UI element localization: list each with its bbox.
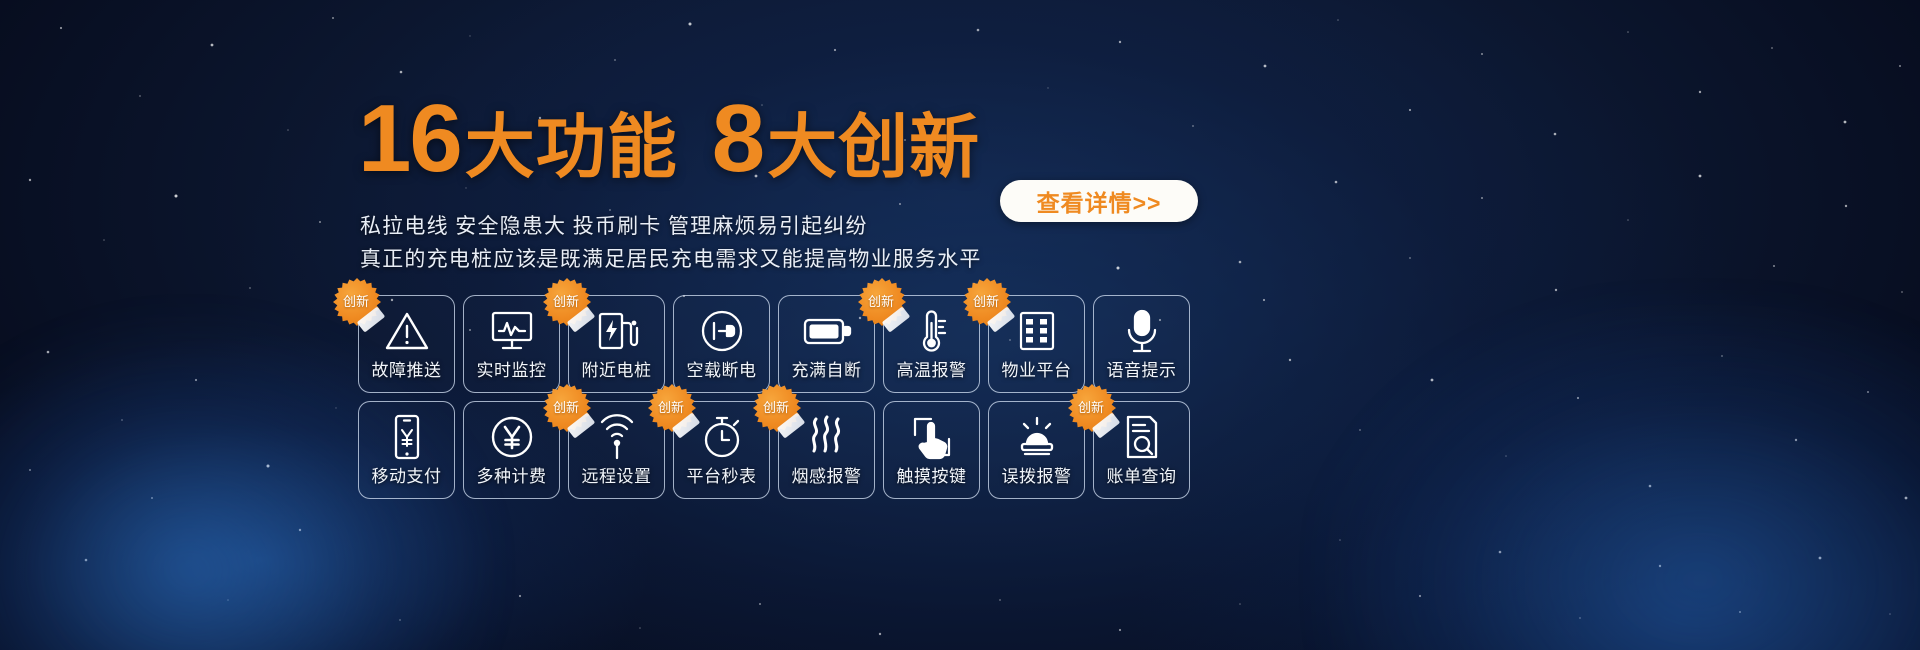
battery-full-icon (802, 300, 852, 362)
touch-hand-icon (909, 406, 955, 468)
feature-label: 实时监控 (477, 362, 547, 379)
innovation-badge-label: 创新 (1078, 397, 1104, 416)
innovation-badge: 创新 (1068, 384, 1116, 432)
feature-label: 移动支付 (372, 468, 442, 485)
headline-word-innovations: 大创新 (767, 112, 980, 182)
feature-tile-property-platform[interactable]: 创新 物业平台 (988, 295, 1085, 393)
innovation-badge-label: 创新 (973, 291, 999, 310)
feature-label: 账单查询 (1107, 468, 1177, 485)
innovation-badge: 创新 (543, 278, 591, 326)
innovation-badge: 创新 (963, 278, 1011, 326)
innovation-badge: 创新 (543, 384, 591, 432)
feature-label: 物业平台 (1002, 362, 1072, 379)
feature-tile-touch-button[interactable]: 触摸按键 (883, 401, 980, 499)
feature-label: 误拨报警 (1002, 468, 1072, 485)
stopwatch-icon (699, 406, 745, 468)
innovation-badge: 创新 (333, 278, 381, 326)
view-details-button[interactable]: 查看详情>> (1000, 180, 1198, 222)
innovation-badge-label: 创新 (553, 397, 579, 416)
innovation-badge: 创新 (753, 384, 801, 432)
feature-label: 平台秒表 (687, 468, 757, 485)
innovation-badge-label: 创新 (868, 291, 894, 310)
feature-label: 高温报警 (897, 362, 967, 379)
yuan-coin-icon (489, 406, 535, 468)
headline-number-functions: 16 (358, 92, 461, 186)
monitor-waveform-icon (489, 300, 535, 362)
feature-tile-mobile-payment[interactable]: 移动支付 (358, 401, 455, 499)
headline-number-innovations: 8 (712, 92, 763, 186)
microphone-icon (1122, 300, 1162, 362)
feature-tile-idle-cutoff[interactable]: 空载断电 (673, 295, 770, 393)
innovation-badge: 创新 (648, 384, 696, 432)
feature-label: 语音提示 (1107, 362, 1177, 379)
plug-disconnect-icon (698, 300, 746, 362)
bill-search-icon (1121, 406, 1163, 468)
page-title: 16 大功能 8 大创新 (358, 92, 980, 186)
feature-tile-smoke-alarm[interactable]: 创新 烟感报警 (778, 401, 875, 499)
innovation-badge-label: 创新 (658, 397, 684, 416)
innovation-badge: 创新 (858, 278, 906, 326)
thermometer-icon (912, 300, 952, 362)
innovation-badge-label: 创新 (343, 291, 369, 310)
mobile-payment-icon (389, 406, 425, 468)
subtitle-line-2: 真正的充电桩应该是既满足居民充电需求又能提高物业服务水平 (360, 243, 982, 273)
promo-banner: 16 大功能 8 大创新 查看详情>> 私拉电线 安全隐患大 投币刷卡 管理麻烦… (0, 0, 1920, 650)
feature-label: 触摸按键 (897, 468, 967, 485)
innovation-badge-label: 创新 (763, 397, 789, 416)
innovation-badge-label: 创新 (553, 291, 579, 310)
building-icon (1015, 300, 1059, 362)
feature-tile-fault-push[interactable]: 创新 故障推送 (358, 295, 455, 393)
feature-label: 烟感报警 (792, 468, 862, 485)
feature-label: 远程设置 (582, 468, 652, 485)
subtitle-line-1: 私拉电线 安全隐患大 投币刷卡 管理麻烦易引起纠纷 (360, 210, 868, 240)
feature-tile-bill-query[interactable]: 创新 账单查询 (1093, 401, 1190, 499)
feature-label: 多种计费 (477, 468, 547, 485)
feature-label: 空载断电 (687, 362, 757, 379)
wireless-signal-icon (592, 406, 642, 468)
feature-grid: 创新 故障推送 实时监控 (358, 295, 1194, 501)
charging-pile-icon (594, 300, 640, 362)
warning-triangle-icon (384, 300, 430, 362)
feature-label: 附近电桩 (582, 362, 652, 379)
headline-word-functions: 大功能 (465, 112, 678, 182)
feature-tile-nearby-pile[interactable]: 创新 附近电桩 (568, 295, 665, 393)
feature-label: 充满自断 (792, 362, 862, 379)
feature-label: 故障推送 (372, 362, 442, 379)
feature-tile-voice-prompt[interactable]: 语音提示 (1093, 295, 1190, 393)
alarm-light-icon (1013, 406, 1061, 468)
smoke-detector-icon (803, 406, 851, 468)
